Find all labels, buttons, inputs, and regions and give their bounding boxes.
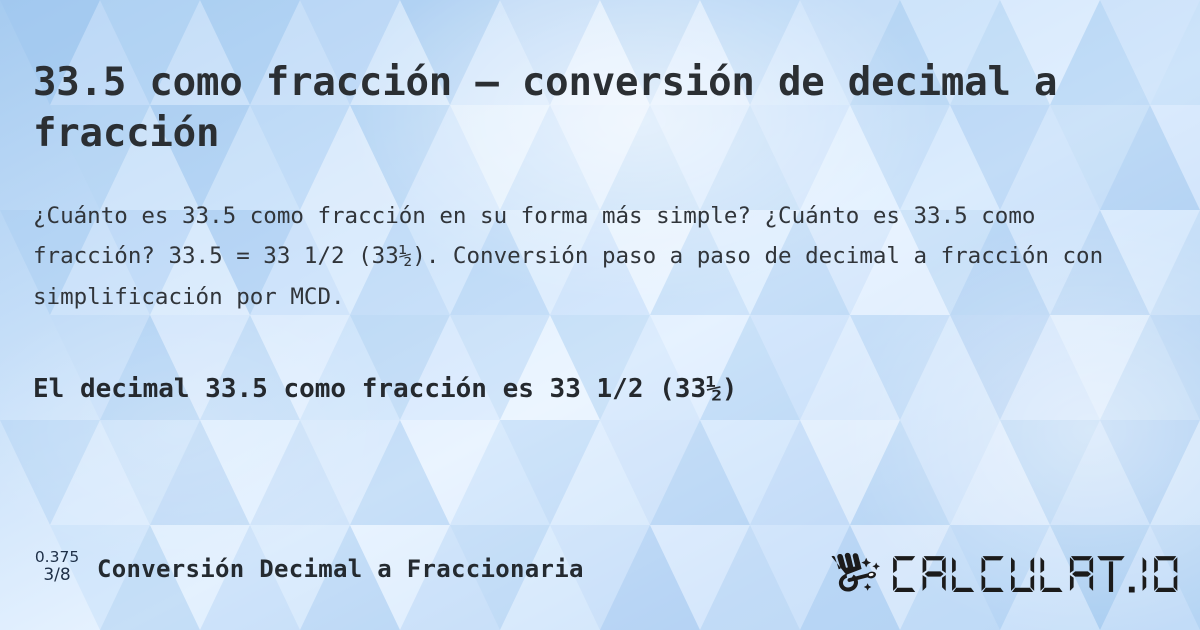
brand-logo[interactable]: CALCULAT.IO — [823, 548, 1186, 598]
result-statement: El decimal 33.5 como fracción es 33 1/2 … — [33, 371, 1163, 407]
fraction-mark-fraction: 3/8 — [24, 566, 90, 584]
og-image-card: 33.5 como fracción – conversión de decim… — [0, 0, 1200, 630]
footer: 0.375 3/8 Conversión Decimal a Fracciona… — [0, 546, 1200, 604]
tool-name: Conversión Decimal a Fraccionaria — [97, 555, 584, 583]
page-description: ¿Cuánto es 33.5 como fracción en su form… — [33, 196, 1123, 318]
page-title: 33.5 como fracción – conversión de decim… — [33, 57, 1103, 159]
fraction-mark-decimal: 0.375 — [24, 549, 90, 566]
magic-wand-hand-icon — [823, 550, 887, 596]
brand-wordmark: CALCULAT.IO — [891, 553, 1186, 593]
fraction-mark-icon: 0.375 3/8 — [24, 549, 90, 584]
